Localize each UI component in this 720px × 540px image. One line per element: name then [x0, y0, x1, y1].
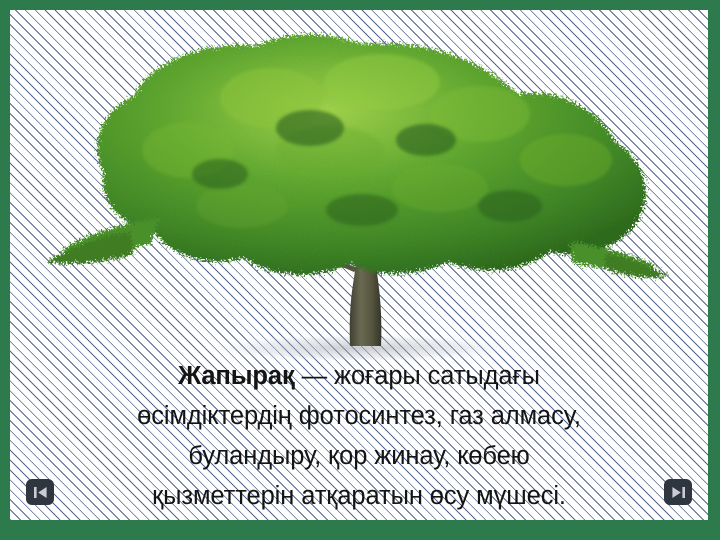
skip-back-icon — [33, 486, 48, 499]
tree-illustration — [10, 10, 708, 360]
caption-term: Жапырақ — [178, 362, 295, 390]
caption-line-1-rest: жоғары сатыдағы — [334, 362, 540, 390]
tree-canopy-shadows — [192, 110, 542, 226]
caption-line-2: өсімдіктердің фотосинтез, газ алмасу, — [36, 396, 682, 436]
tree-image — [10, 10, 708, 360]
skip-forward-icon — [671, 486, 686, 499]
caption-line-3: буландыру, қор жинау, көбею — [36, 436, 682, 476]
caption-line-4: қызметтерін атқаратын өсу мүшесі. — [36, 476, 682, 516]
tree-canopy-highlights — [142, 54, 612, 228]
next-slide-button[interactable] — [664, 479, 692, 505]
slide-caption: Жапырақ — жоғары сатыдағы өсімдіктердің … — [10, 356, 708, 516]
caption-line-1: Жапырақ — жоғары сатыдағы — [36, 356, 682, 396]
tree-trunk — [242, 200, 496, 346]
previous-slide-button[interactable] — [26, 479, 54, 505]
caption-dash: — — [295, 362, 334, 390]
slide-canvas: Жапырақ — жоғары сатыдағы өсімдіктердің … — [10, 10, 708, 520]
presentation-slide: Жапырақ — жоғары сатыдағы өсімдіктердің … — [0, 0, 720, 540]
tree-canopy — [46, 35, 668, 278]
